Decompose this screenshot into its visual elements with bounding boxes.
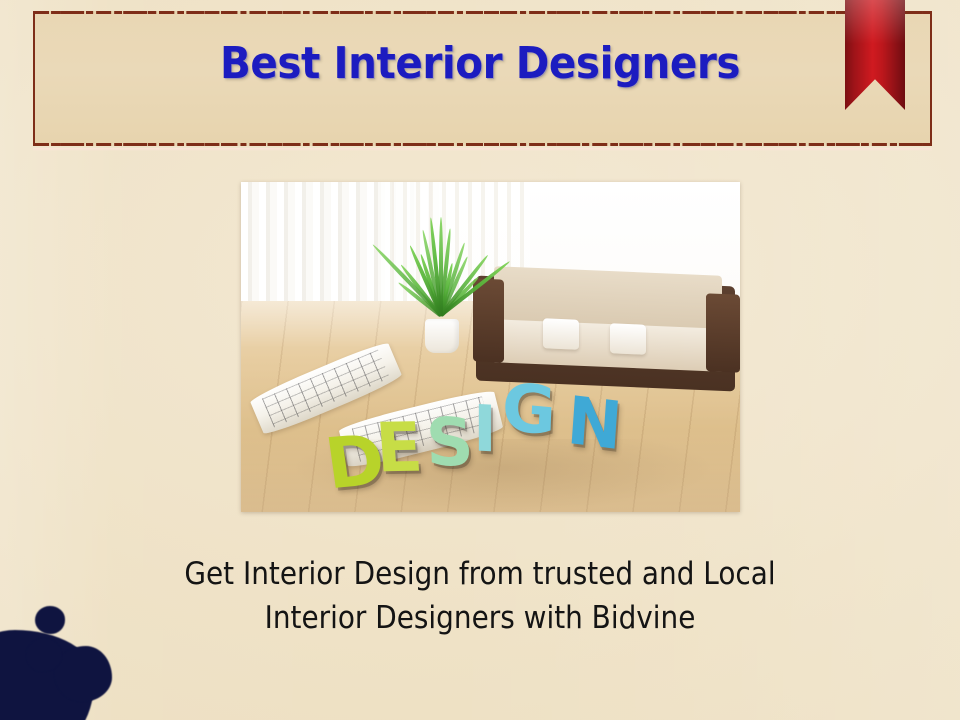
hero-image-scene: DESIGN <box>241 182 740 512</box>
design-letter-n: N <box>564 388 624 461</box>
caption-line-1: Get Interior Design from trusted and Loc… <box>120 552 840 596</box>
hero-image: DESIGN <box>241 182 740 512</box>
ink-blot-decoration <box>0 580 150 720</box>
sofa-arm-right <box>706 293 740 372</box>
design-letter-s: S <box>425 410 475 477</box>
sofa-cushion <box>543 318 579 350</box>
frame-bottom-dashed-rule <box>35 143 930 146</box>
plant-pot <box>425 319 459 354</box>
frame-underglow <box>33 148 932 151</box>
caption: Get Interior Design from trusted and Loc… <box>120 552 840 640</box>
scene-potted-plant <box>391 192 491 350</box>
caption-line-2: Interior Designers with Bidvine <box>120 596 840 640</box>
scene-design-letters: DESIGN <box>326 387 685 506</box>
page-title: Best Interior Designers <box>38 38 921 89</box>
ink-blot-small <box>35 606 65 634</box>
sofa-cushion <box>610 323 646 355</box>
slide-canvas: Best Interior Designers <box>0 0 960 720</box>
design-letter-g: G <box>501 375 557 446</box>
ink-blot-medium <box>54 646 112 702</box>
design-letter-e: E <box>374 415 425 484</box>
design-letter-i: I <box>473 398 497 463</box>
frame-top-dashed-rule <box>35 11 930 14</box>
